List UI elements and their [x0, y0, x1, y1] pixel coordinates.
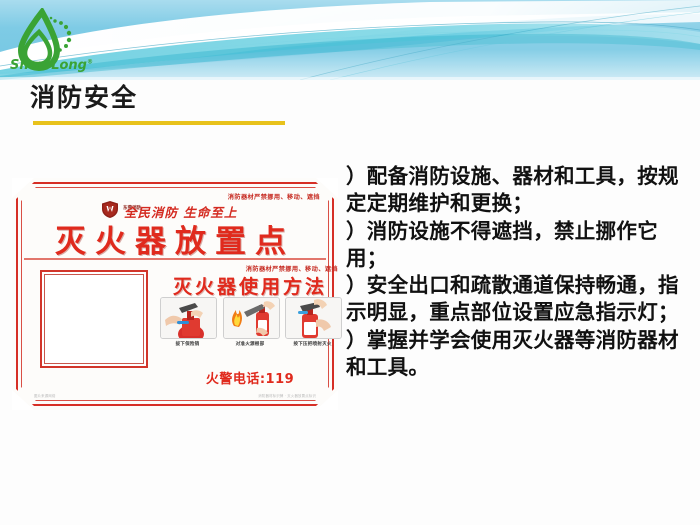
step-caption: 拔下保险销 — [160, 341, 215, 347]
sign-watermark-right: 消防器材标识牌 · 灭火器放置点标识 — [258, 393, 316, 398]
safety-rule-item: ）掌握并学会使用灭火器等消防器材和工具。 — [346, 327, 694, 382]
safety-rule-item: ）配备消防设施、器材和工具，按规定定期维护和更换； — [346, 163, 694, 218]
step-photo-squeeze-handle — [285, 297, 342, 339]
step-photo-aim-base — [223, 297, 280, 339]
safety-rule-item: ）消防设施不得遮挡，禁止挪作它用； — [346, 218, 694, 273]
usage-step: 按下压把喷射灭火 — [285, 297, 340, 347]
banner-waves-decoration — [0, 0, 700, 80]
sign-lower-section: 消防器材严禁挪用、移动、遮挡 灭火器使用方法 — [24, 264, 326, 390]
title-underline-rule — [33, 121, 285, 125]
step-caption: 按下压把喷射灭火 — [285, 341, 340, 347]
sign-usage-steps: 拔下保险销 — [160, 297, 340, 347]
sign-divider — [24, 258, 326, 260]
registered-mark: ® — [87, 59, 93, 66]
sign-usage-title: 灭火器使用方法 — [160, 272, 340, 299]
extinguisher-placement-box — [40, 270, 148, 368]
sign-watermark-left: 图片来源网络 — [34, 393, 56, 398]
sign-warning-top: 消防器材严禁挪用、移动、遮挡 — [228, 192, 320, 201]
shen-long-logo: Shen Long® — [8, 8, 94, 78]
logo-wordmark: Shen Long® — [10, 58, 93, 73]
slide-header-banner: Shen Long® — [0, 0, 700, 80]
usage-step: 拔下保险销 — [160, 297, 215, 347]
page-title: 消防安全 — [30, 84, 138, 112]
step-caption: 对准火源根部 — [223, 341, 278, 347]
extinguisher-placement-box-inner — [44, 274, 144, 364]
usage-step: 对准火源根部 — [223, 297, 278, 347]
fire-extinguisher-sign-image: 消防器材严禁挪用、移动、遮挡 东莞消防 全民消防 生命至上 灭火器放置点 消防器… — [12, 178, 338, 410]
step-photo-pull-pin — [160, 297, 217, 339]
sign-main-title: 灭火器放置点 — [24, 216, 326, 261]
sign-emergency-phone: 火警电话:119 — [160, 368, 340, 387]
safety-rules-list: ）配备消防设施、器材和工具，按规定定期维护和更换； ）消防设施不得遮挡，禁止挪作… — [346, 163, 694, 381]
safety-rule-item: ）安全出口和疏散通道保持畅通，指示明显，重点部位设置应急指示灯； — [346, 272, 694, 327]
